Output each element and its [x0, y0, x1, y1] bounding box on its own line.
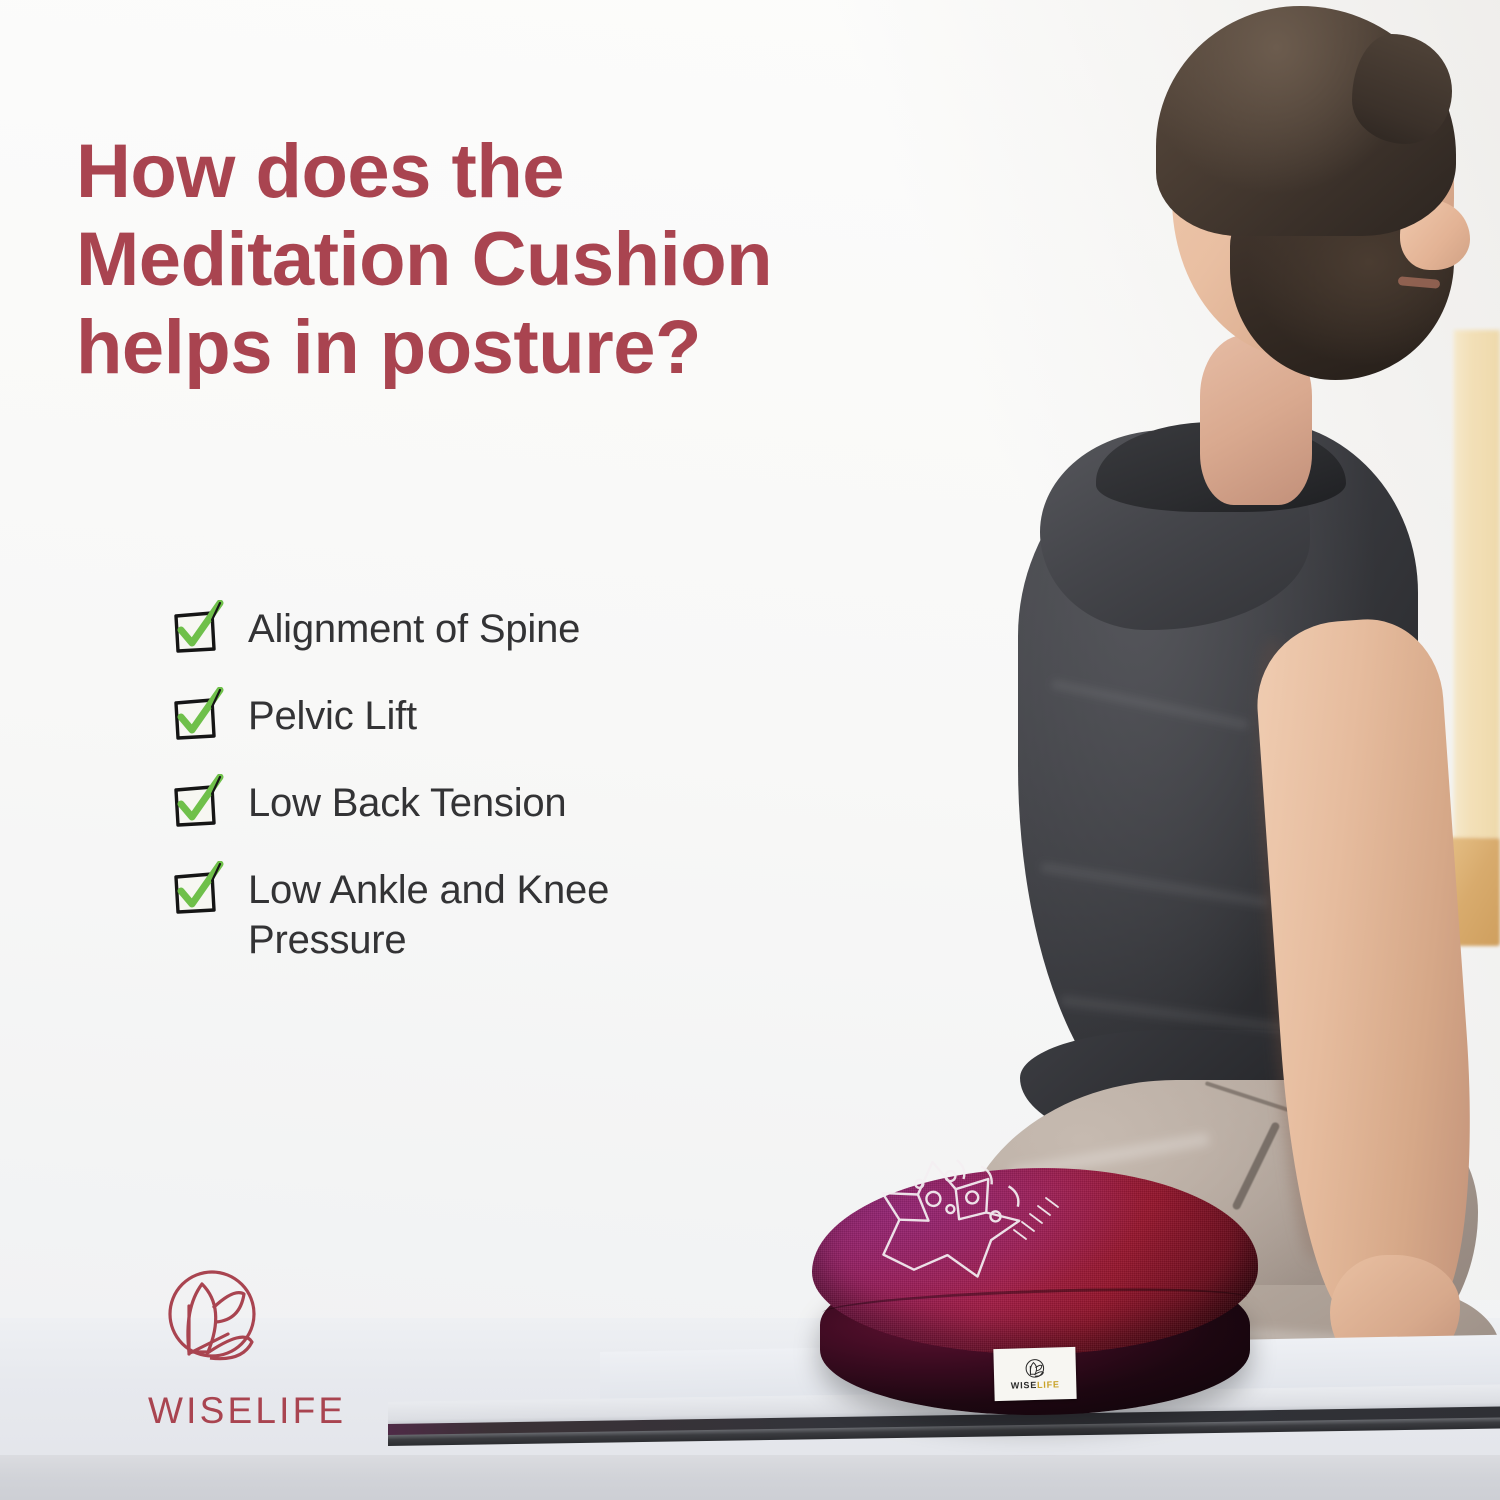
brand-name: WISELIFE: [148, 1390, 378, 1432]
list-item-label: Alignment of Spine: [248, 604, 580, 655]
floor-texture: [0, 1455, 1500, 1500]
page-title-line-1: How does the: [76, 128, 956, 216]
page-title: How does the Meditation Cushion helps in…: [76, 128, 956, 392]
hair-fringe: [1352, 34, 1452, 144]
page-title-line-2: Meditation Cushion: [76, 216, 956, 304]
list-item-label: Pelvic Lift: [248, 691, 417, 742]
list-item-label: Low Ankle and Knee Pressure: [248, 865, 748, 965]
list-item: Low Ankle and Knee Pressure: [168, 865, 808, 965]
checkbox-checked-icon: [168, 600, 226, 658]
product-tag-word-second: LIFE: [1037, 1379, 1060, 1390]
mandala-print: [864, 1134, 1094, 1284]
product-tag-wordmark: WISELIFE: [1011, 1380, 1060, 1390]
list-item: Alignment of Spine: [168, 604, 808, 658]
list-item: Pelvic Lift: [168, 691, 808, 745]
leaf-circle-icon: [1022, 1358, 1049, 1381]
brand-logo: WISELIFE: [148, 1264, 378, 1432]
list-item-label: Low Back Tension: [248, 778, 566, 829]
checkbox-checked-icon: [168, 861, 226, 919]
leaf-circle-icon: [156, 1264, 268, 1376]
checkbox-checked-icon: [168, 774, 226, 832]
list-item: Low Back Tension: [168, 778, 808, 832]
promo-image-canvas: WISELIFE How does the Meditation Cushion…: [0, 0, 1500, 1500]
product-brand-tag: WISELIFE: [993, 1347, 1076, 1401]
meditation-cushion: WISELIFE: [812, 1168, 1260, 1418]
product-tag-word-first: WISE: [1011, 1380, 1037, 1391]
page-title-line-3: helps in posture?: [76, 304, 956, 392]
benefits-checklist: Alignment of Spine Pelvic Lift Low Back …: [168, 604, 808, 998]
checkbox-checked-icon: [168, 687, 226, 745]
